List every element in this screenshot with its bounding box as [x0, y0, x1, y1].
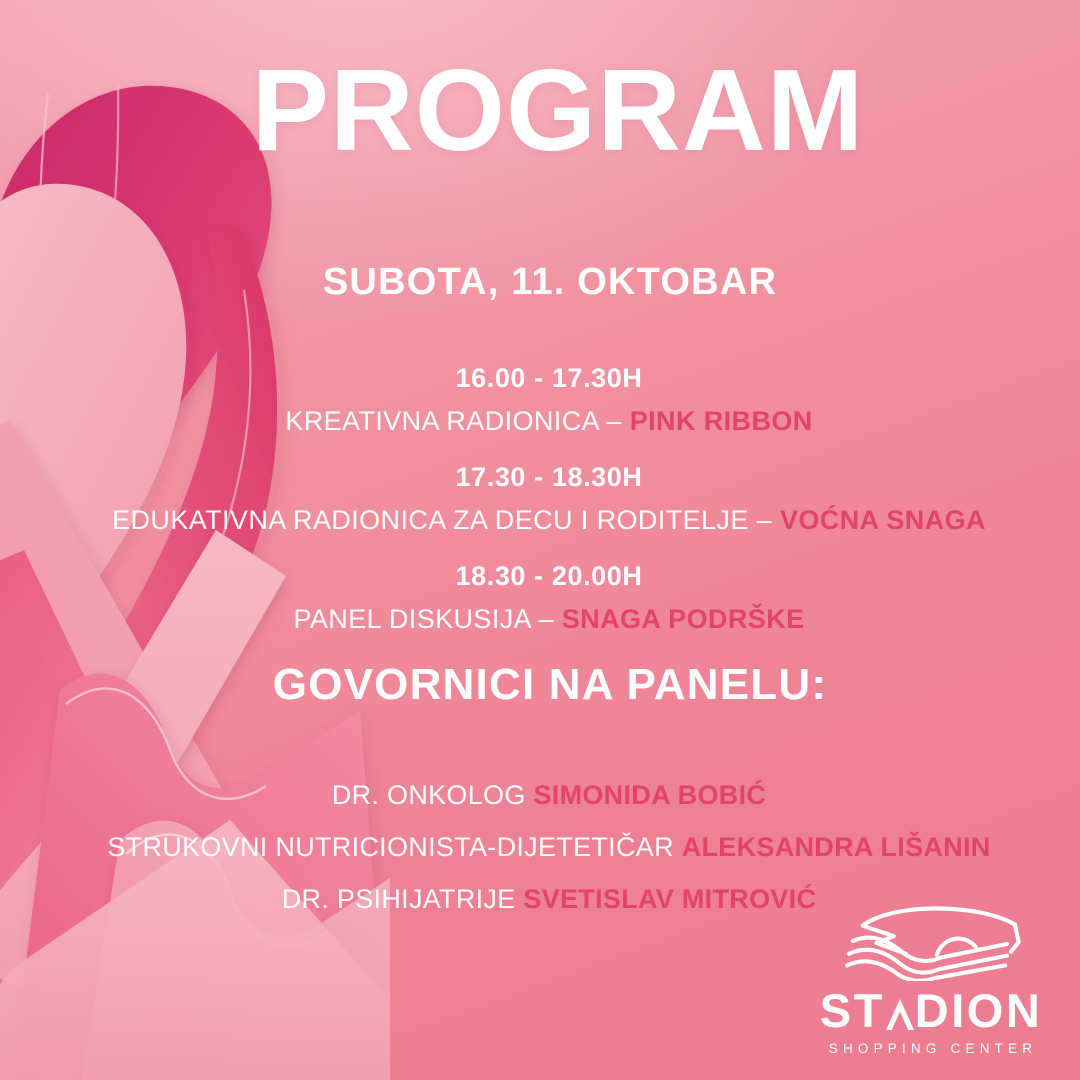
poster-canvas: PROGRAM SUBOTA, 11. OKTOBAR 16.00 - 17.3…	[0, 0, 1080, 1080]
schedule-item: 16.00 - 17.30H KREATIVNA RADIONICA – PIN…	[0, 358, 1080, 443]
schedule-name-highlight: PINK RIBBON	[630, 406, 813, 436]
schedule-time: 16.00 - 17.30H	[0, 358, 1080, 400]
speaker-item: STRUKOVNI NUTRICIONISTA-DIJETETIČAR ALEK…	[0, 822, 1080, 874]
speaker-item: DR. ONKOLOG SIMONIDA BOBIĆ	[0, 770, 1080, 822]
schedule-time: 18.30 - 20.00H	[0, 556, 1080, 598]
logo-tagline: SHOPPING CENTER	[816, 1041, 1046, 1056]
stadium-roof-icon	[831, 903, 1031, 981]
speakers-heading: GOVORNICI NA PANELU:	[0, 660, 1080, 710]
logo-word-part2: DION	[915, 984, 1043, 1037]
schedule-name: EDUKATIVNA RADIONICA ZA DECU I RODITELJE…	[0, 499, 1080, 542]
schedule-name: KREATIVNA RADIONICA – PINK RIBBON	[0, 400, 1080, 443]
schedule-list: 16.00 - 17.30H KREATIVNA RADIONICA – PIN…	[0, 358, 1080, 655]
schedule-item: 17.30 - 18.30H EDUKATIVNA RADIONICA ZA D…	[0, 457, 1080, 542]
logo-wordmark: ST DION	[816, 987, 1046, 1034]
schedule-name-prefix: EDUKATIVNA RADIONICA ZA DECU I RODITELJE…	[112, 505, 780, 535]
speaker-name: SIMONIDA BOBIĆ	[533, 780, 766, 810]
speaker-role: STRUKOVNI NUTRICIONISTA-DIJETETIČAR	[107, 832, 681, 862]
schedule-name: PANEL DISKUSIJA – SNAGA PODRŠKE	[0, 598, 1080, 641]
schedule-name-prefix: KREATIVNA RADIONICA –	[285, 406, 629, 436]
schedule-item: 18.30 - 20.00H PANEL DISKUSIJA – SNAGA P…	[0, 556, 1080, 641]
speaker-role: DR. PSIHIJATRIJE	[282, 884, 524, 914]
speaker-name: ALEKSANDRA LIŠANIN	[682, 832, 991, 862]
schedule-time: 17.30 - 18.30H	[0, 457, 1080, 499]
poster-content: PROGRAM SUBOTA, 11. OKTOBAR 16.00 - 17.3…	[0, 0, 1080, 1080]
page-title: PROGRAM	[0, 52, 1080, 168]
schedule-name-highlight: VOĆNA SNAGA	[780, 505, 986, 535]
logo-triangle-a-icon	[885, 997, 915, 1031]
stadion-logo: ST DION SHOPPING CENTER	[816, 903, 1046, 1056]
schedule-name-prefix: PANEL DISKUSIJA –	[293, 604, 561, 634]
event-date: SUBOTA, 11. OKTOBAR	[0, 261, 1080, 304]
logo-word-part1: ST	[820, 984, 885, 1037]
speaker-name: SVETISLAV MITROVIĆ	[523, 884, 816, 914]
schedule-name-highlight: SNAGA PODRŠKE	[562, 604, 805, 634]
speaker-role: DR. ONKOLOG	[332, 780, 534, 810]
